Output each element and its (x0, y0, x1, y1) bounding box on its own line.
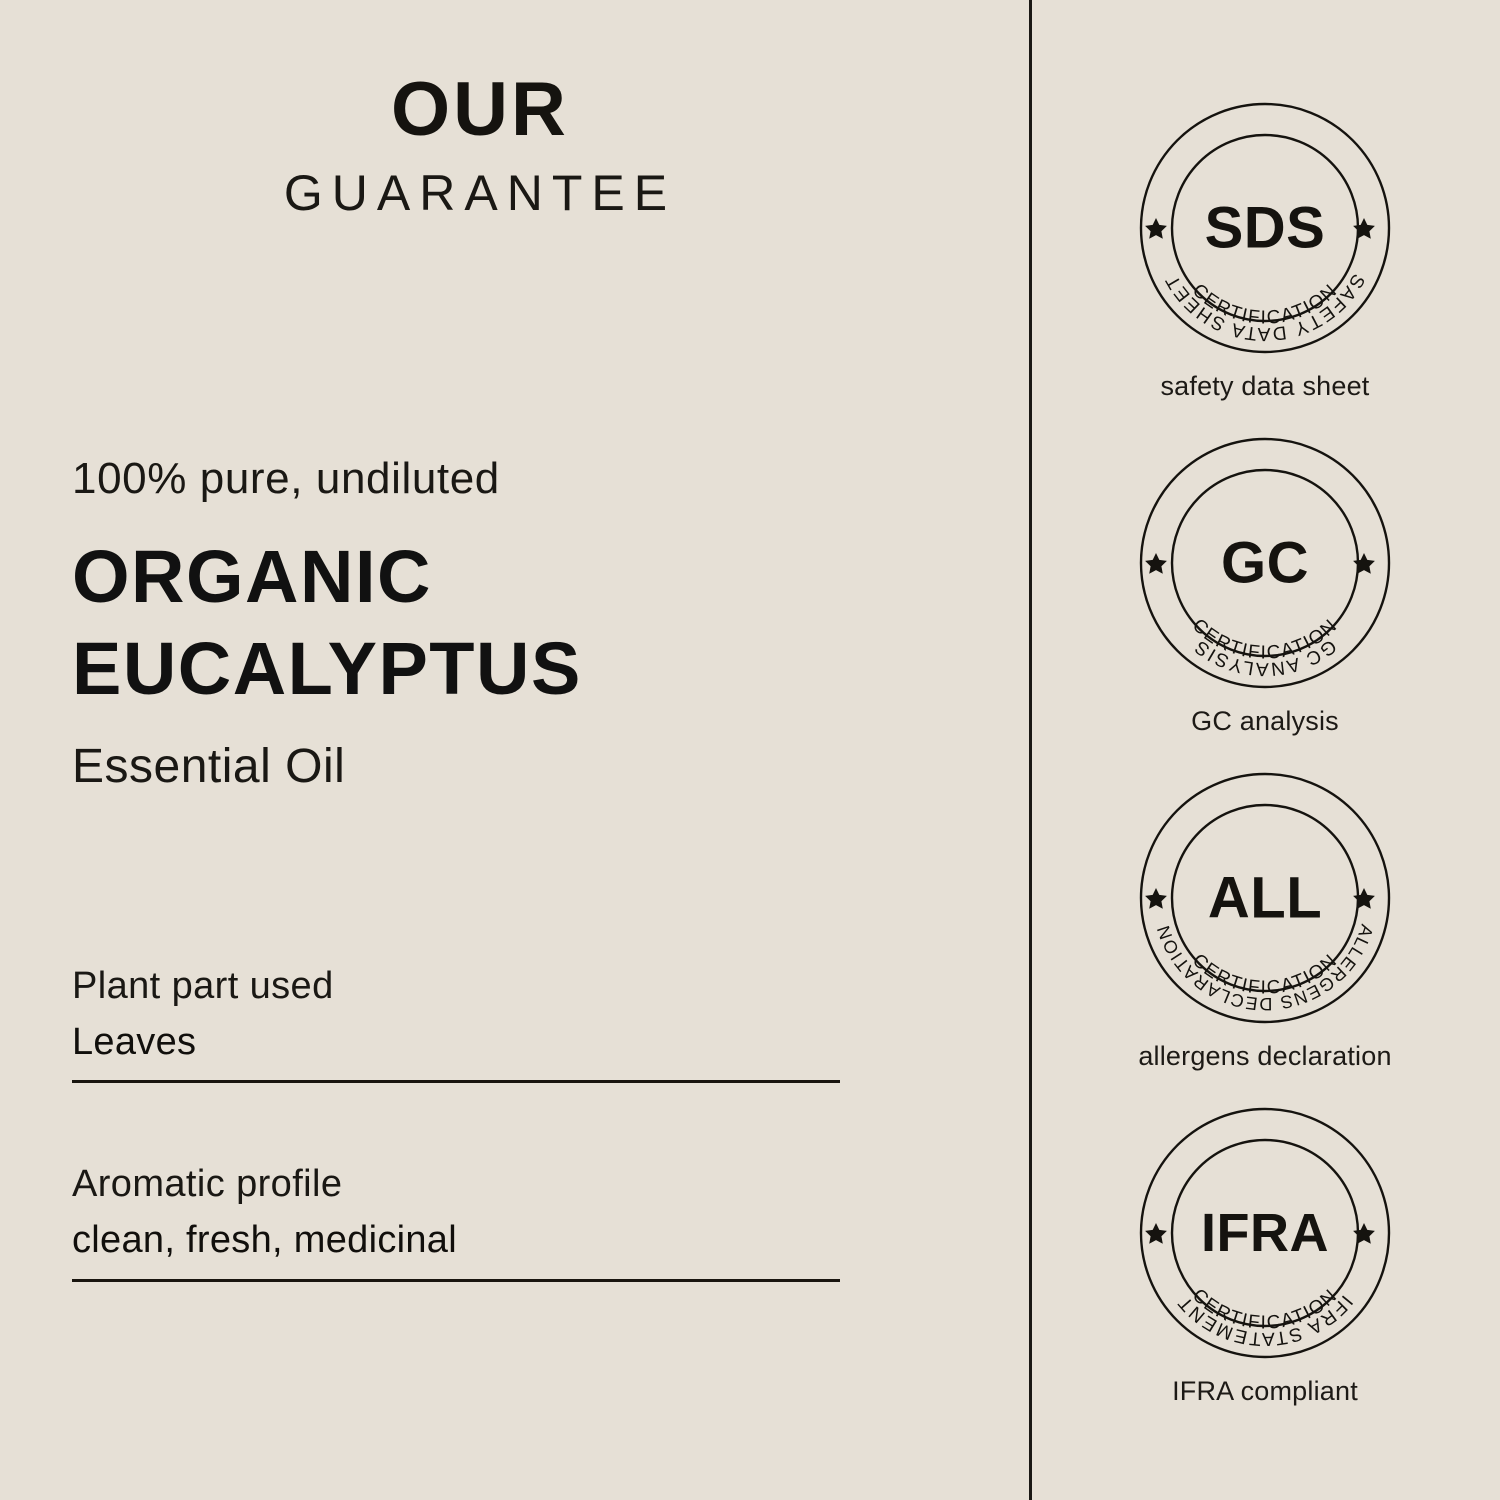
seal-icon-ifra: IFRA STATEMENT CERTIFICATION IFRA (1137, 1105, 1393, 1361)
star-icon-right (1353, 218, 1375, 239)
badge-caption: allergens declaration (1030, 1040, 1500, 1072)
attribute-label: Aromatic profile (72, 1163, 840, 1207)
page-title: OUR GUARANTEE (0, 72, 960, 218)
star-icon-right (1353, 888, 1375, 909)
attribute-value: clean, fresh, medicinal (72, 1219, 840, 1263)
star-icon-left (1145, 888, 1167, 909)
product-name-line-2: EUCALYPTUS (72, 623, 972, 715)
product-eyebrow: 100% pure, undiluted (72, 455, 972, 503)
attribute-value: Leaves (72, 1021, 840, 1065)
seal-abbreviation: GC (1221, 531, 1309, 596)
product-heading: 100% pure, undiluted ORGANIC EUCALYPTUS … (72, 455, 972, 794)
certification-badge-sds: SAFETY DATA SHEET CERTIFICATION SDS safe… (1030, 100, 1500, 402)
guarantee-panel: OUR GUARANTEE 100% pure, undiluted ORGAN… (0, 0, 1500, 1500)
certification-badge-list: SAFETY DATA SHEET CERTIFICATION SDS safe… (1030, 0, 1500, 1500)
badge-caption: safety data sheet (1030, 370, 1500, 402)
seal-abbreviation: ALL (1208, 866, 1322, 931)
product-name: ORGANIC EUCALYPTUS (72, 531, 972, 715)
attribute-list: Plant part used Leaves Aromatic profile … (72, 965, 840, 1282)
product-subtitle: Essential Oil (72, 741, 972, 794)
attribute-label: Plant part used (72, 965, 840, 1009)
seal-icon-all: ALLERGENS DECLARATION CERTIFICATION ALL (1137, 770, 1393, 1026)
certification-badge-ifra: IFRA STATEMENT CERTIFICATION IFRA IFRA c… (1030, 1105, 1500, 1407)
star-icon-right (1353, 553, 1375, 574)
certification-badge-gc: GC ANALYSIS CERTIFICATION GC GC analysis (1030, 435, 1500, 737)
seal-abbreviation: SDS (1205, 196, 1326, 261)
svg-text:ALLERGENS DECLARATION: ALLERGENS DECLARATION (1153, 922, 1377, 1014)
attribute-row-plant-part: Plant part used Leaves (72, 965, 840, 1083)
star-icon-right (1353, 1223, 1375, 1244)
badge-caption: GC analysis (1030, 705, 1500, 737)
seal-icon-gc: GC ANALYSIS CERTIFICATION GC (1137, 435, 1393, 691)
seal-top-text: SAFETY DATA SHEET (1161, 270, 1368, 344)
product-name-line-1: ORGANIC (72, 531, 972, 623)
badge-caption: IFRA compliant (1030, 1375, 1500, 1407)
star-icon-left (1145, 218, 1167, 239)
seal-icon-sds: SAFETY DATA SHEET CERTIFICATION SDS (1137, 100, 1393, 356)
seal-top-text: ALLERGENS DECLARATION (1153, 922, 1377, 1014)
certification-badge-allergens: ALLERGENS DECLARATION CERTIFICATION ALL … (1030, 770, 1500, 1072)
svg-text:SAFETY DATA SHEET: SAFETY DATA SHEET (1161, 270, 1368, 344)
title-line-primary: OUR (0, 72, 960, 148)
star-icon-left (1145, 1223, 1167, 1244)
right-certification-panel: SAFETY DATA SHEET CERTIFICATION SDS safe… (1030, 0, 1500, 1500)
star-icon-left (1145, 553, 1167, 574)
attribute-row-aromatic-profile: Aromatic profile clean, fresh, medicinal (72, 1163, 840, 1281)
seal-abbreviation: IFRA (1201, 1203, 1329, 1263)
left-content-panel: OUR GUARANTEE 100% pure, undiluted ORGAN… (0, 0, 1030, 1500)
title-line-secondary: GUARANTEE (0, 168, 960, 218)
